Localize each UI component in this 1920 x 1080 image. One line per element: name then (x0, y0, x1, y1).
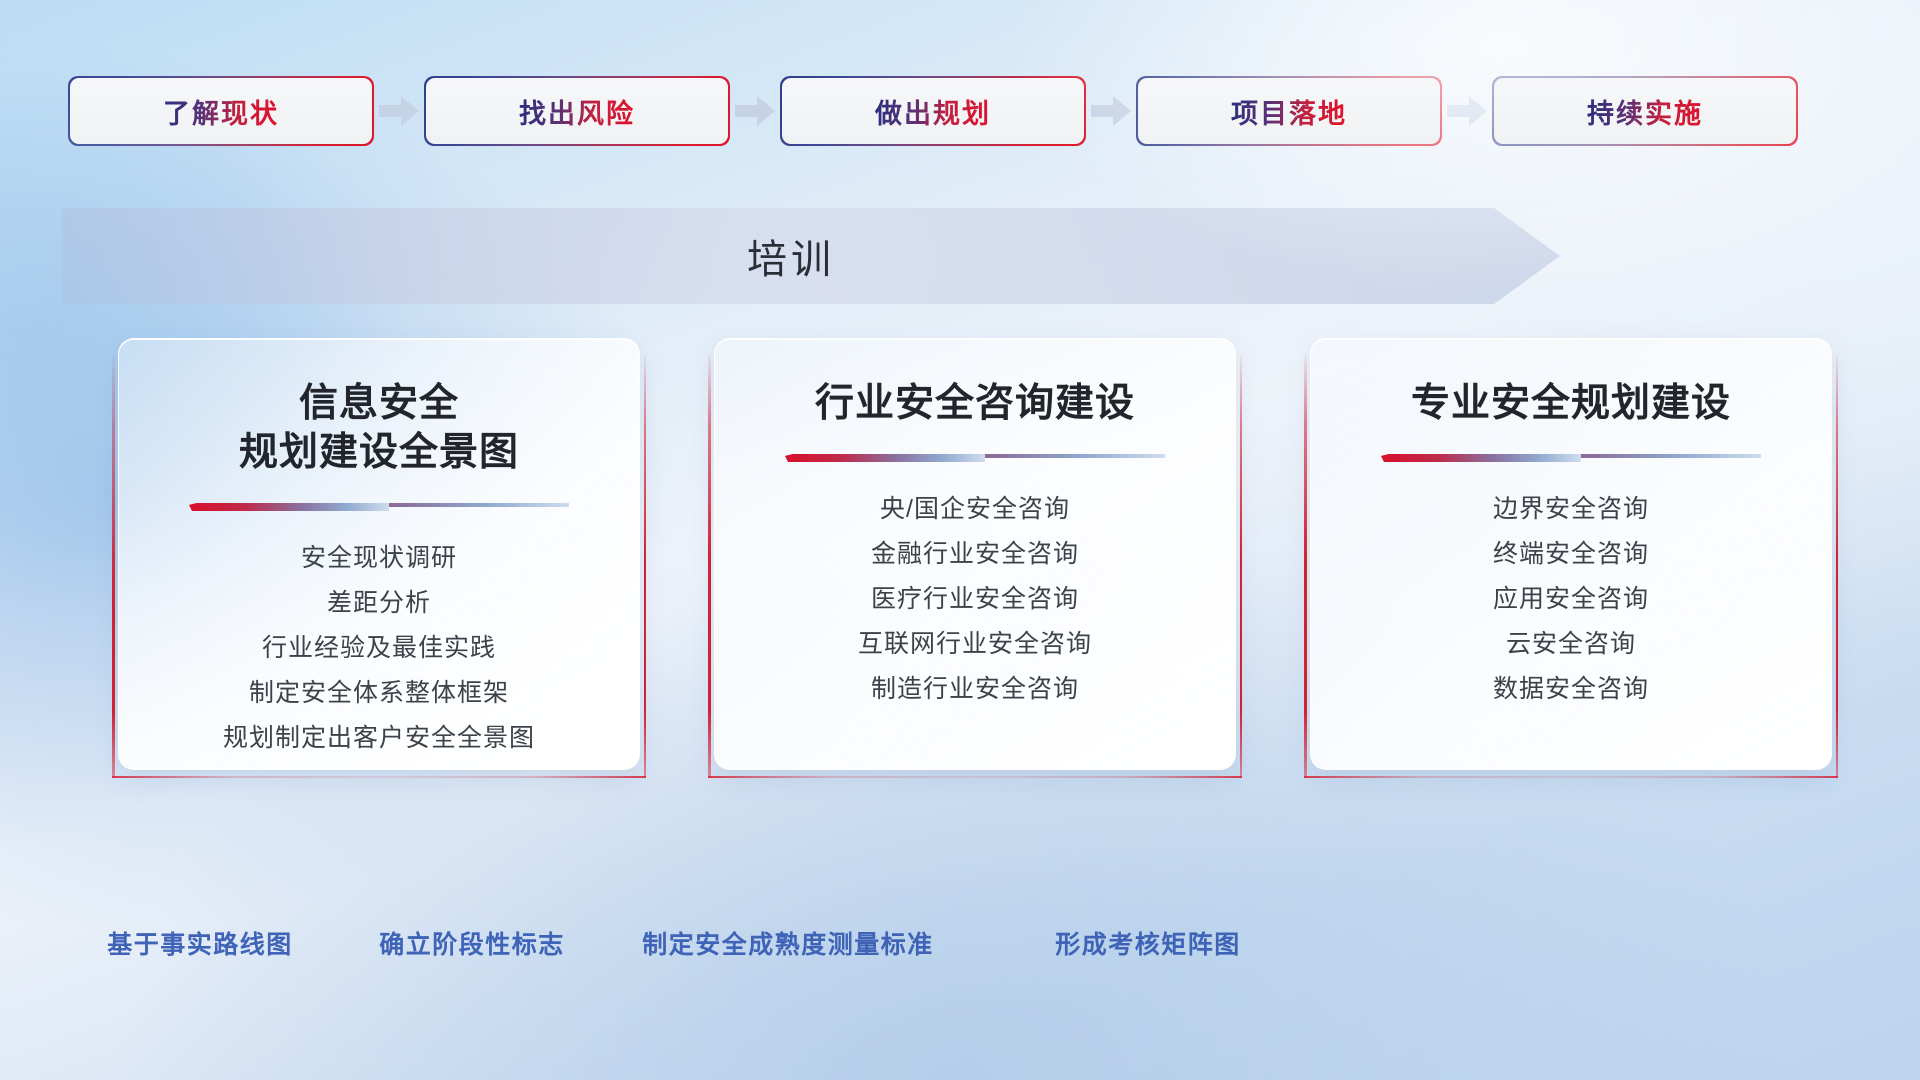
card-information-security-blueprint[interactable]: 信息安全 规划建设全景图 (118, 338, 640, 770)
step-label: 做出规划 (875, 92, 991, 131)
card-rail-left (708, 356, 711, 778)
bottom-labels: 基于事实路线图 确立阶段性标志 制定安全成熟度测量标准 形成考核矩阵图 (0, 925, 1920, 969)
card-rail-left (112, 356, 115, 778)
arrow-right-icon (728, 96, 782, 126)
list-item: 制造行业安全咨询 (741, 667, 1209, 712)
card-rail-right (1836, 356, 1839, 778)
step-label: 项目落地 (1231, 92, 1347, 131)
training-banner: 培训 (62, 208, 1560, 304)
list-item: 边界安全咨询 (1337, 487, 1805, 532)
card-rail-right (644, 356, 647, 778)
arrow-right-icon (372, 96, 426, 126)
list-item: 云安全咨询 (1337, 622, 1805, 667)
gradient-divider-icon (1381, 454, 1761, 463)
step-box-2[interactable]: 找出风险 (426, 78, 728, 144)
card-wrap-3: 专业安全规划建设 (1304, 338, 1838, 770)
solution-cards: 信息安全 规划建设全景图 (112, 338, 1872, 770)
process-steps: 了解现状 找出风险 做出规划 项目落地 (70, 78, 1860, 144)
bottom-label-1: 基于事实路线图 (107, 925, 293, 961)
card-title: 专业安全规划建设 (1411, 379, 1731, 428)
step-box-5[interactable]: 持续实施 (1494, 78, 1796, 144)
bottom-label-4: 形成考核矩阵图 (1055, 925, 1241, 961)
banner-label: 培训 (62, 208, 1560, 304)
card-title: 行业安全咨询建设 (815, 379, 1135, 428)
step-label: 找出风险 (519, 92, 635, 131)
card-rail-base (1304, 776, 1838, 779)
list-item: 央/国企安全咨询 (741, 487, 1209, 532)
card-list: 边界安全咨询 终端安全咨询 应用安全咨询 云安全咨询 数据安全咨询 (1337, 487, 1805, 712)
card-rail-right (1240, 356, 1243, 778)
gradient-divider-icon (785, 454, 1165, 463)
card-rail-base (708, 776, 1242, 779)
arrow-right-icon (1440, 96, 1494, 126)
list-item: 行业经验及最佳实践 (145, 626, 613, 671)
gradient-divider-icon (189, 503, 569, 512)
list-item: 终端安全咨询 (1337, 532, 1805, 577)
step-box-3[interactable]: 做出规划 (782, 78, 1084, 144)
list-item: 制定安全体系整体框架 (145, 671, 613, 716)
list-item: 应用安全咨询 (1337, 577, 1805, 622)
card-wrap-1: 信息安全 规划建设全景图 (112, 338, 646, 770)
bottom-label-3: 制定安全成熟度测量标准 (642, 925, 934, 961)
card-professional-security-planning[interactable]: 专业安全规划建设 (1310, 338, 1832, 770)
arrow-right-icon (1084, 96, 1138, 126)
list-item: 安全现状调研 (145, 536, 613, 581)
list-item: 互联网行业安全咨询 (741, 622, 1209, 667)
slide-root: 了解现状 找出风险 做出规划 项目落地 (0, 0, 1920, 1080)
list-item: 规划制定出客户安全全景图 (145, 716, 613, 761)
step-box-1[interactable]: 了解现状 (70, 78, 372, 144)
list-item: 医疗行业安全咨询 (741, 577, 1209, 622)
step-label: 了解现状 (163, 92, 279, 131)
card-list: 安全现状调研 差距分析 行业经验及最佳实践 制定安全体系整体框架 规划制定出客户… (145, 536, 613, 761)
list-item: 金融行业安全咨询 (741, 532, 1209, 577)
card-list: 央/国企安全咨询 金融行业安全咨询 医疗行业安全咨询 互联网行业安全咨询 制造行… (741, 487, 1209, 712)
step-box-4[interactable]: 项目落地 (1138, 78, 1440, 144)
list-item: 数据安全咨询 (1337, 667, 1805, 712)
bottom-label-2: 确立阶段性标志 (379, 925, 565, 961)
card-rail-left (1304, 356, 1307, 778)
card-wrap-2: 行业安全咨询建设 (708, 338, 1242, 770)
card-rail-base (112, 776, 646, 779)
list-item: 差距分析 (145, 581, 613, 626)
card-title: 信息安全 规划建设全景图 (239, 379, 519, 477)
card-industry-security-consulting[interactable]: 行业安全咨询建设 (714, 338, 1236, 770)
step-label: 持续实施 (1587, 92, 1703, 131)
